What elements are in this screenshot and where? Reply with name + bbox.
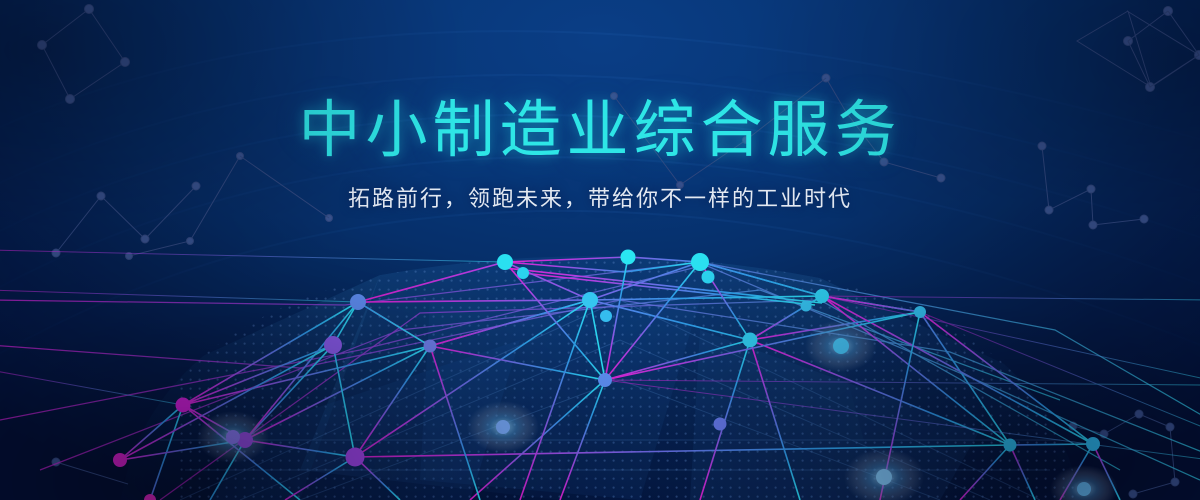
page-subtitle: 拓路前行，领跑未来，带给你不一样的工业时代 bbox=[0, 181, 1200, 213]
dome-structural-edges bbox=[120, 257, 1120, 500]
hero-text-block: 中小制造业综合服务 拓路前行，领跑未来，带给你不一样的工业时代 bbox=[0, 96, 1200, 213]
page-title: 中小制造业综合服务 bbox=[0, 96, 1200, 165]
hero-banner: 中小制造业综合服务 拓路前行，领跑未来，带给你不一样的工业时代 bbox=[0, 0, 1200, 500]
wireframe-network-dome bbox=[0, 0, 1200, 500]
